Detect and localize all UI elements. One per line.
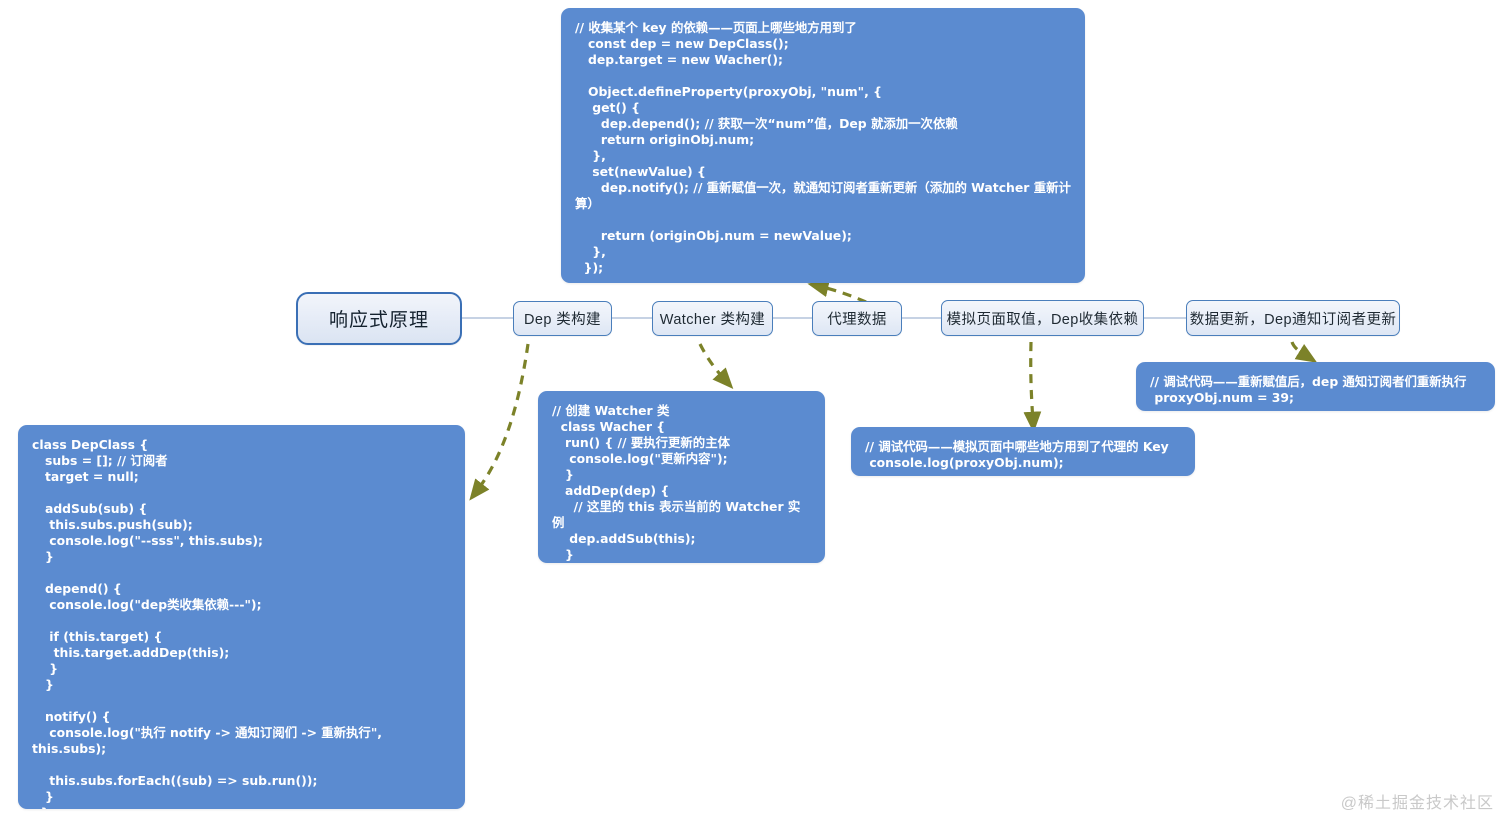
arrow-dep-to-code bbox=[476, 344, 528, 492]
node-proxy-data-label: 代理数据 bbox=[827, 308, 887, 329]
node-root-label: 响应式原理 bbox=[329, 305, 429, 332]
arrow-watcher-to-code bbox=[700, 344, 726, 381]
arrow-proxy-to-code bbox=[818, 286, 866, 302]
mindmap-canvas: 响应式原理 Dep 类构建 Watcher 类构建 代理数据 模拟页面取值，De… bbox=[0, 0, 1512, 827]
node-dep-class[interactable]: Dep 类构建 bbox=[513, 301, 612, 336]
node-watcher-class-label: Watcher 类构建 bbox=[660, 308, 765, 329]
card-watcher-code: // 创建 Watcher 类 class Wacher { run() { /… bbox=[538, 391, 825, 563]
card-proxy-code: // 收集某个 key 的依赖——页面上哪些地方用到了 const dep = … bbox=[561, 8, 1085, 283]
node-dep-class-label: Dep 类构建 bbox=[524, 308, 601, 329]
node-page-get-label: 模拟页面取值，Dep收集依赖 bbox=[947, 308, 1139, 329]
node-root[interactable]: 响应式原理 bbox=[296, 292, 462, 345]
node-page-get[interactable]: 模拟页面取值，Dep收集依赖 bbox=[941, 300, 1144, 336]
watermark: @稀土掘金技术社区 bbox=[1341, 789, 1494, 813]
card-dep-code: class DepClass { subs = []; // 订阅者 targe… bbox=[18, 425, 465, 809]
node-data-update[interactable]: 数据更新，Dep通知订阅者更新 bbox=[1186, 300, 1400, 336]
arrow-pageget-to-code bbox=[1031, 342, 1033, 422]
node-proxy-data[interactable]: 代理数据 bbox=[812, 301, 902, 336]
arrow-update-to-code bbox=[1292, 342, 1308, 357]
card-get-debug-code: // 调试代码——模拟页面中哪些地方用到了代理的 Key console.log… bbox=[851, 427, 1195, 476]
card-set-debug-code: // 调试代码——重新赋值后，dep 通知订阅者们重新执行 proxyObj.n… bbox=[1136, 362, 1495, 411]
node-watcher-class[interactable]: Watcher 类构建 bbox=[652, 301, 773, 336]
node-data-update-label: 数据更新，Dep通知订阅者更新 bbox=[1190, 308, 1397, 329]
